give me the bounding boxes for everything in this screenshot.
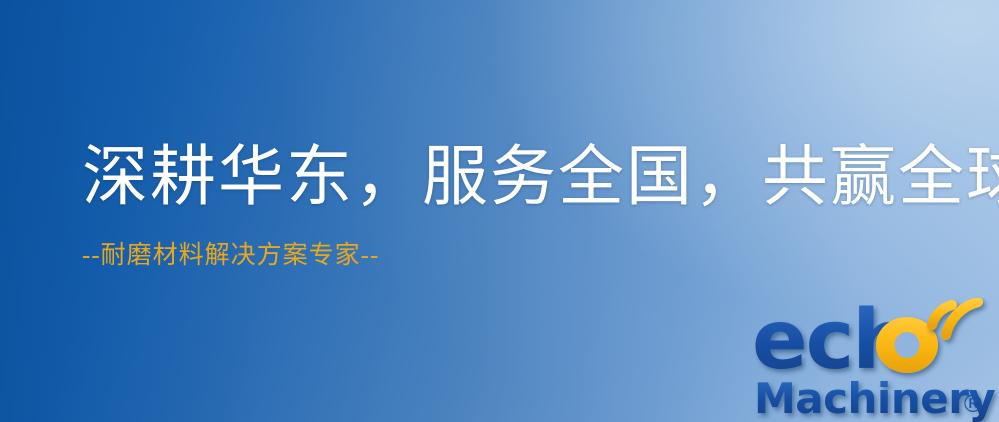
logo-wordmark-machinery: Machinery [754, 374, 995, 422]
logo-wordmark-machinery-group: Machinery ® [754, 374, 995, 422]
banner-headline: 深耕华东，服务全国，共赢全球 [82, 142, 962, 213]
logo-o-inner-counter [895, 332, 920, 358]
promo-banner: 深耕华东，服务全国，共赢全球 --耐磨材料解决方案专家-- [0, 0, 999, 422]
banner-subline: --耐磨材料解决方案专家-- [82, 241, 962, 271]
registered-trademark-icon: ® [961, 390, 985, 418]
echo-wave-arcs-group [932, 302, 978, 335]
logo-artwork: ech Machinery ® [752, 298, 999, 422]
banner-text-block: 深耕华东，服务全国，共赢全球 --耐磨材料解决方案专家-- [82, 142, 962, 271]
company-logo[interactable]: ech Machinery ® [752, 298, 999, 422]
